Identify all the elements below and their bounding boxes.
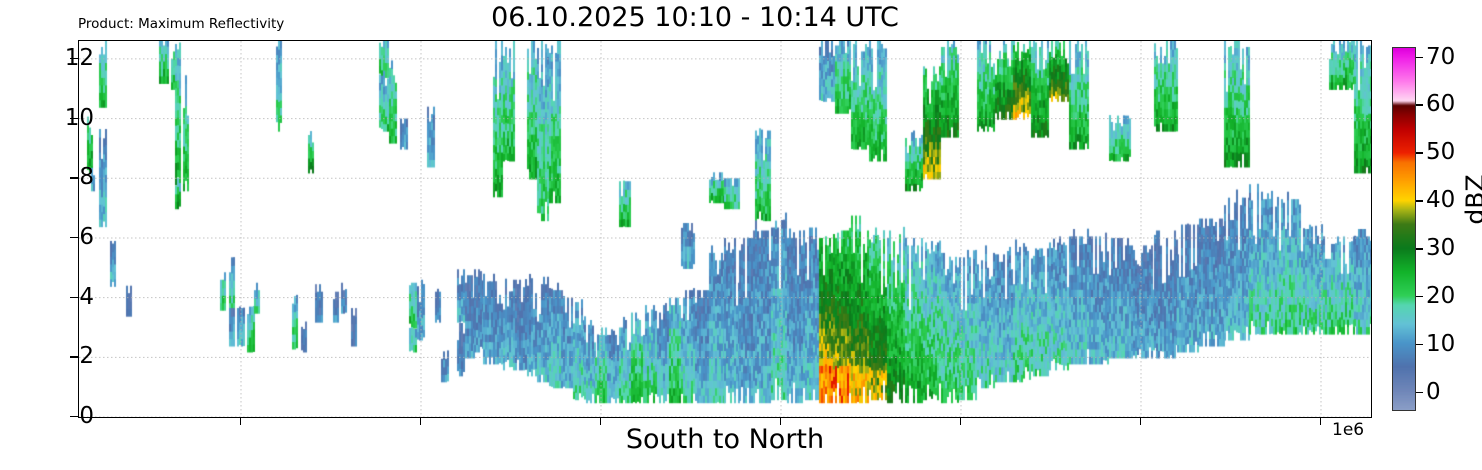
plot-area [78,40,1372,418]
colorbar-tick-label: 70 [1426,44,1455,70]
colorbar-tick-label: 10 [1426,331,1455,357]
y-tick-label: 12 [34,45,94,71]
y-tick-label: 8 [34,164,94,190]
y-tick-mark [70,58,78,59]
y-tick-label: 4 [34,284,94,310]
x-tick-mark [960,418,961,425]
x-tick-mark [780,418,781,425]
colorbar [1392,47,1416,411]
y-tick-label: 10 [34,105,94,131]
colorbar-tick-mark [1416,296,1423,297]
reflectivity-heatmap [79,41,1371,417]
x-axis-offset-label: 1e6 [1332,420,1364,440]
x-tick-mark [600,418,601,425]
y-tick-mark [70,297,78,298]
colorbar-title: dBZ [1461,140,1482,260]
y-tick-mark [70,177,78,178]
x-tick-mark [420,418,421,425]
x-tick-mark [240,418,241,425]
y-tick-mark [70,237,78,238]
colorbar-tick-label: 60 [1426,91,1455,117]
colorbar-gradient [1392,47,1416,411]
x-axis-label: South to North [78,424,1372,455]
colorbar-tick-mark [1416,344,1423,345]
colorbar-tick-mark [1416,104,1423,105]
colorbar-tick-label: 0 [1426,379,1441,405]
y-tick-mark [70,356,78,357]
x-tick-mark [1140,418,1141,425]
y-tick-label: 6 [34,224,94,250]
y-tick-label: 0 [34,403,94,429]
colorbar-tick-label: 30 [1426,235,1455,261]
colorbar-tick-mark [1416,57,1423,58]
colorbar-tick-label: 40 [1426,187,1455,213]
colorbar-tick-mark [1416,248,1423,249]
y-tick-mark [70,416,78,417]
colorbar-tick-mark [1416,392,1423,393]
colorbar-tick-mark [1416,200,1423,201]
y-tick-label: 2 [34,343,94,369]
y-tick-mark [70,118,78,119]
x-tick-mark [1320,418,1321,425]
colorbar-tick-label: 50 [1426,139,1455,165]
radar-cross-section-figure: 06.10.2025 10:10 - 10:14 UTC Product: Ma… [0,0,1482,470]
product-annotation: Product: Maximum Reflectivity [78,16,284,32]
colorbar-tick-label: 20 [1426,283,1455,309]
colorbar-tick-mark [1416,152,1423,153]
